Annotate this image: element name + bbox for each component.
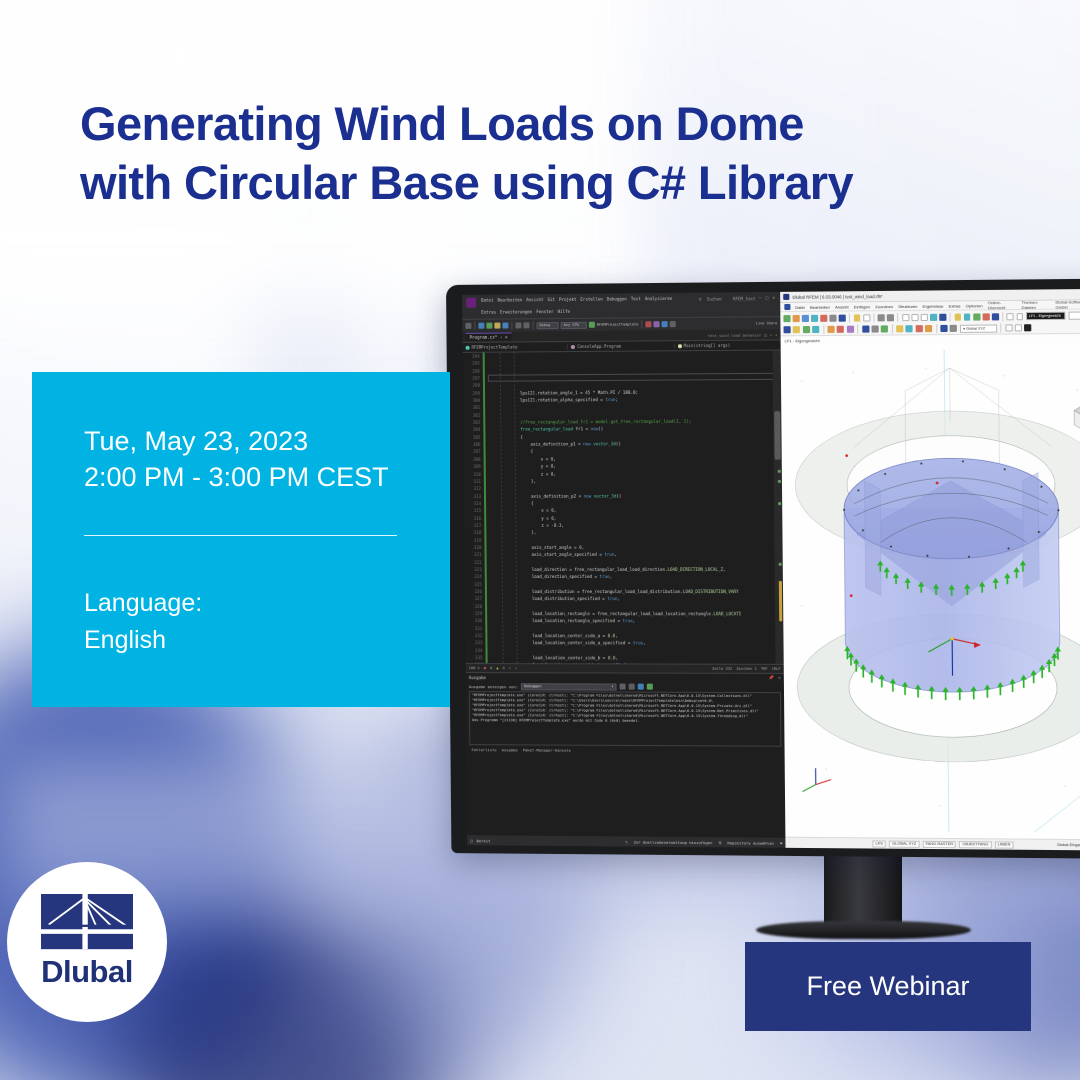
vs-menu-item[interactable]: Hilfe <box>558 308 570 316</box>
line-load-icon[interactable] <box>896 325 903 332</box>
rfem-3d-viewport[interactable] <box>781 342 1080 840</box>
toolbar-separator <box>1000 323 1001 332</box>
tab-right-label: test_wind_load_behavior <box>708 332 762 337</box>
support-icon[interactable] <box>862 326 869 333</box>
load-case-combo[interactable]: LF1 - Eigengewicht <box>1026 312 1066 320</box>
print-preview-icon[interactable] <box>839 314 846 321</box>
surface-load-icon[interactable] <box>906 325 913 332</box>
title-line-2: with Circular Base using C# Library <box>80 153 853 212</box>
vs-menu-item[interactable]: Fenster <box>536 308 553 316</box>
vs-menu-bar[interactable]: Datei Bearbeiten Ansicht Git Projekt Ers… <box>481 295 678 316</box>
toolbar-separator <box>641 320 642 328</box>
nav-class[interactable]: ConsoleApp.Program <box>568 343 674 349</box>
vs-menu-item[interactable]: Git <box>548 296 556 304</box>
save-as-icon[interactable] <box>811 314 818 321</box>
zoom-out-icon[interactable] <box>964 313 971 320</box>
split-icon[interactable]: ◫ <box>764 332 766 337</box>
toolbar-separator <box>873 313 874 322</box>
tab-output[interactable]: Ausgabe <box>502 747 518 752</box>
vs-menu-item[interactable]: Erweiterungen <box>500 308 532 316</box>
warning-icon: ▲ <box>496 666 498 670</box>
class-icon <box>571 345 575 349</box>
output-settings-icon[interactable] <box>638 684 644 690</box>
vs-project-label: RFEM_test <box>733 296 756 301</box>
output-source-value: Debuggen <box>524 684 541 688</box>
vs-code-editor[interactable]: 2942952962972982993003013023033043053063… <box>463 351 784 664</box>
scroll-marker <box>779 563 782 566</box>
tabs-indicator: TRF <box>761 667 768 671</box>
line-indicator: Zeile 332 <box>712 667 732 671</box>
toolbar-separator <box>532 321 533 329</box>
vs-menu-item[interactable]: Test <box>631 295 641 303</box>
vs-menu-item[interactable]: Ansicht <box>526 296 543 304</box>
results-table-icon[interactable] <box>1016 313 1023 320</box>
event-time: 2:00 PM - 3:00 PM CEST <box>84 460 450 496</box>
error-count: 0 <box>490 666 492 670</box>
project-icon <box>466 345 470 349</box>
start-debug-icon[interactable] <box>589 322 595 328</box>
build-config-combo[interactable]: Debug <box>536 322 558 329</box>
tab-label: Program.cs* <box>469 335 497 340</box>
live-share-icon[interactable] <box>670 321 676 327</box>
tab-error-list[interactable]: Fehlerliste <box>471 747 496 752</box>
zoom-window-icon[interactable] <box>982 313 989 320</box>
vs-search-label: Suchen <box>707 296 722 301</box>
nav-member[interactable]: Main(string[] args) <box>675 342 781 348</box>
rfem-menu-item[interactable]: Datei <box>795 304 805 309</box>
output-bottom-tabs[interactable]: Fehlerliste Ausgabe Paket-Manager-Konsol… <box>466 745 784 755</box>
node-icon[interactable] <box>793 326 800 333</box>
save-model-icon[interactable] <box>802 314 809 321</box>
status-chip[interactable]: LKS <box>872 840 886 847</box>
free-webinar-button[interactable]: Free Webinar <box>745 942 1031 1031</box>
current-line-highlight <box>488 373 781 382</box>
imperfection-icon[interactable] <box>925 325 932 332</box>
maximize-icon[interactable]: □ <box>765 296 768 301</box>
view-sections-icon[interactable] <box>930 313 937 320</box>
output-title-label: Ausgabe <box>469 675 486 680</box>
toolbar-separator <box>511 321 512 329</box>
zoom-level[interactable]: 100 % <box>469 666 480 670</box>
rfem-app-icon <box>783 294 789 300</box>
view-numbering-icon[interactable] <box>940 313 947 320</box>
vs-search-box[interactable]: ⚲ Suchen RFEM_test <box>699 294 756 302</box>
rfem-menu-item[interactable]: Extras <box>949 303 961 308</box>
nodal-load-icon[interactable] <box>881 325 888 332</box>
nav-project[interactable]: RFEMProjectTemplate <box>463 344 569 350</box>
status-chip[interactable]: GLOBAL XYZ <box>889 840 919 847</box>
method-icon <box>678 344 682 348</box>
dome-model-graphic <box>781 342 1080 840</box>
nav-up-icon[interactable]: ↑ <box>509 666 511 670</box>
redo-icon[interactable] <box>887 314 894 321</box>
dlubal-wordmark: Dlubal <box>41 954 133 990</box>
opening-icon[interactable] <box>847 326 854 333</box>
language-value: English <box>84 626 450 655</box>
visual-studio-logo-icon <box>466 298 476 308</box>
run-target-label[interactable]: RFEMProjectTemplate <box>597 322 639 326</box>
object-snap-icon[interactable] <box>1015 324 1022 331</box>
event-info-panel: Tue, May 23, 2023 2:00 PM - 3:00 PM CEST… <box>32 372 450 707</box>
tab-program-cs[interactable]: Program.cs* ☼ ✕ <box>465 332 511 340</box>
rfem-menu-right[interactable]: Online-Übersicht Themen-Dateien Dlubal-S… <box>988 299 1080 310</box>
select-repository[interactable]: Repository auswählen <box>727 840 774 845</box>
rfem-menu-icon <box>784 304 790 310</box>
output-log[interactable]: "RFEMProjectTemplate.exe" (CoreCLR: clrh… <box>469 691 782 747</box>
repository-icon[interactable]: ⚲ <box>718 840 721 845</box>
surface-icon[interactable] <box>827 326 834 333</box>
rfem-menu-item[interactable]: Zuordnen <box>875 304 893 309</box>
toolbar-separator <box>950 312 951 321</box>
toolbar-separator <box>892 324 893 333</box>
redo-icon[interactable] <box>523 322 529 328</box>
step-icon[interactable] <box>654 321 660 327</box>
free-webinar-label: Free Webinar <box>806 971 969 1002</box>
rfem-title-label: Dlubal RFEM | 6.03.0046 | test_wind_load… <box>792 293 882 299</box>
status-ready-label: Bereit <box>477 838 491 843</box>
nav-member-label: Main(string[] args) <box>684 343 731 348</box>
rfem-menu-item[interactable]: Einfügen <box>854 304 870 309</box>
nav-project-label: RFEMProjectTemplate <box>472 344 518 349</box>
toolbar-separator <box>936 324 937 333</box>
toolbar-separator <box>849 313 850 322</box>
undo-icon[interactable] <box>878 314 885 321</box>
output-source-label: Ausgabe anzeigen von: <box>469 684 518 689</box>
visual-studio-window[interactable]: Datei Bearbeiten Ansicht Git Projekt Ers… <box>462 292 785 848</box>
status-chip[interactable]: OBJEKTFANG <box>959 841 991 848</box>
language-label: Language: <box>84 589 450 618</box>
close-icon[interactable]: ✕ <box>778 675 781 681</box>
chevron-down-icon[interactable]: ▾ <box>770 332 772 337</box>
toolbar-separator <box>898 313 899 322</box>
clear-output-icon[interactable] <box>620 684 626 690</box>
axis-gizmo <box>802 768 831 792</box>
coordinate-system-combo[interactable]: ● Global XYZ <box>960 324 997 332</box>
member-icon[interactable] <box>812 326 819 333</box>
save-icon[interactable] <box>494 323 500 329</box>
monitor-bezel: Datei Bearbeiten Ansicht Git Projekt Ers… <box>446 279 1080 859</box>
output-source-combo[interactable]: Debuggen ▾ <box>521 683 617 690</box>
vs-menu-item[interactable]: Projekt <box>559 296 576 304</box>
new-model-icon[interactable] <box>783 315 790 322</box>
minimize-icon[interactable]: – <box>759 296 762 301</box>
rotate-view-icon[interactable] <box>992 313 999 320</box>
scroll-marker <box>778 470 781 473</box>
rfem-menu-item[interactable]: Ansicht <box>835 304 849 309</box>
results-graphic-icon[interactable] <box>1007 313 1014 320</box>
printout-report-icon[interactable] <box>830 314 837 321</box>
vs-tab-overflow[interactable]: test_wind_load_behavior ◫ ▾ ✕ <box>708 332 778 338</box>
hot-reload-icon[interactable] <box>662 321 668 327</box>
tab-package-manager-console[interactable]: Paket-Manager-Konsole <box>523 747 571 752</box>
platform-combo[interactable]: Any CPU <box>561 321 587 328</box>
new-project-icon[interactable] <box>478 323 484 329</box>
back-icon[interactable] <box>465 323 471 329</box>
title-line-1: Generating Wind Loads on Dome <box>80 94 853 153</box>
monitor-screen: Datei Bearbeiten Ansicht Git Projekt Ers… <box>462 289 1080 851</box>
page-title: Generating Wind Loads on Dome with Circu… <box>80 94 853 212</box>
comment-icon[interactable] <box>950 325 957 332</box>
scroll-marker <box>778 502 781 505</box>
event-date: Tue, May 23, 2023 <box>84 424 450 460</box>
column-indicator: Zeichen 1 <box>736 667 756 671</box>
toolbar-separator <box>474 322 475 330</box>
zoom-fit-icon[interactable] <box>973 313 980 320</box>
vs-menu-item[interactable]: Extras <box>481 308 496 316</box>
source-control-icon[interactable]: ↰ <box>625 839 627 844</box>
toolbar-separator <box>1002 312 1003 321</box>
breadcrumb-label: LF1 - Eigengewicht <box>785 338 820 343</box>
rfem-menu-item[interactable]: Strukturen <box>898 303 917 308</box>
rfem-menu-item[interactable]: Optionen <box>966 303 983 308</box>
vs-title-bar: Datei Bearbeiten Ansicht Git Projekt Ers… <box>462 292 780 319</box>
vs-menu-item[interactable]: Datei <box>481 297 493 305</box>
rfem-menu-item[interactable]: Bearbeiten <box>810 304 830 309</box>
error-icon: ● <box>484 666 486 670</box>
vs-menu-item[interactable]: Debuggen <box>607 295 627 303</box>
toggle-wordwrap-icon[interactable] <box>629 684 635 690</box>
rfem-menu-dlubal-software[interactable]: Dlubal-Software-GmbH <box>1055 299 1080 310</box>
rfem-status-bar[interactable]: LKS GLOBAL XYZ FANG RASTER OBJEKTFANG LI… <box>785 837 1080 851</box>
vs-menu-item[interactable]: Analysieren <box>645 295 673 303</box>
dlubal-bridge-icon <box>41 894 133 949</box>
pin-icon[interactable]: 📌 <box>769 675 774 681</box>
select-icon[interactable] <box>784 326 791 333</box>
rfem-menu-topic-files[interactable]: Themen-Dateien <box>1021 300 1050 310</box>
copy-icon[interactable] <box>854 314 861 321</box>
view-orientation-cube <box>1074 402 1080 433</box>
rfem-menu-item[interactable]: Ergebnisse <box>923 303 944 308</box>
undo-icon[interactable] <box>515 322 521 328</box>
paste-icon[interactable] <box>863 314 870 321</box>
view-solid-icon[interactable] <box>911 313 918 320</box>
notifications-icon[interactable]: ⚑ <box>780 840 782 845</box>
status-cad-label: Dlubal-Eingabe-CAD <box>1057 843 1080 847</box>
open-file-icon[interactable] <box>486 323 492 329</box>
toolbar-separator <box>857 325 858 334</box>
info-divider <box>84 535 397 536</box>
pin-icon[interactable]: ☼ <box>500 335 502 339</box>
grid-snap-icon[interactable] <box>1005 324 1012 331</box>
dlubal-logo[interactable]: Dlubal <box>7 862 167 1022</box>
scrollbar-thumb[interactable] <box>774 411 781 460</box>
status-chip[interactable]: LINIEN <box>994 841 1013 848</box>
rfem-window[interactable]: Dlubal RFEM | 6.03.0046 | test_wind_load… <box>780 289 1080 851</box>
zoom-in-icon[interactable] <box>954 313 961 320</box>
line-icon[interactable] <box>803 326 810 333</box>
search-icon: ⚲ <box>699 297 702 302</box>
solid-icon[interactable] <box>837 326 844 333</box>
warning-count: 4 <box>502 666 504 670</box>
open-model-icon[interactable] <box>793 314 800 321</box>
output-filter-icon[interactable] <box>647 684 653 690</box>
close-pane-icon[interactable]: ✕ <box>775 332 777 337</box>
add-to-source-control[interactable]: Zur Quellcodeverwaltung hinzufügen <box>634 839 713 845</box>
axis-guide-line-2 <box>1034 758 1080 833</box>
scroll-marker <box>778 480 781 483</box>
view-render-icon[interactable] <box>921 313 928 320</box>
save-all-icon[interactable] <box>502 322 508 328</box>
code-text-area[interactable]: lps[2].rotation_angle_1 = 45 * Math.PI /… <box>488 351 784 664</box>
scroll-marker <box>779 581 782 621</box>
close-icon[interactable]: ✕ <box>772 296 775 301</box>
print-icon[interactable] <box>820 314 827 321</box>
rfem-menu-online-overview[interactable]: Online-Übersicht <box>988 300 1017 310</box>
vs-window-controls[interactable]: – □ ✕ <box>759 294 778 301</box>
nav-class-label: ConsoleApp.Program <box>577 344 621 349</box>
hinge-icon[interactable] <box>871 325 878 332</box>
vs-status-bar: ▢ Bereit ↰ Zur Quellcodeverwaltung hinzu… <box>467 835 785 848</box>
chevron-down-icon: ▾ <box>611 685 613 689</box>
toolbar-separator <box>823 325 824 334</box>
stop-icon[interactable] <box>645 321 651 327</box>
live-share-label[interactable]: Live Share <box>756 321 778 325</box>
guideline-icon[interactable] <box>1024 324 1031 331</box>
monitor-stand-base <box>756 921 971 939</box>
encoding-indicator: CRLF <box>772 667 781 671</box>
dimension-icon[interactable] <box>940 325 947 332</box>
vs-menu-item[interactable]: Bearbeiten <box>497 296 522 304</box>
vs-menu-item[interactable]: Erstellen <box>580 296 602 304</box>
nav-down-icon[interactable]: ↓ <box>515 666 517 670</box>
status-ready-icon: ▢ <box>470 838 472 843</box>
result-combo[interactable] <box>1068 311 1080 319</box>
close-icon[interactable]: ✕ <box>505 335 508 340</box>
view-wireframe-icon[interactable] <box>902 314 909 321</box>
free-load-icon[interactable] <box>916 325 923 332</box>
status-chip[interactable]: FANG RASTER <box>922 840 956 847</box>
